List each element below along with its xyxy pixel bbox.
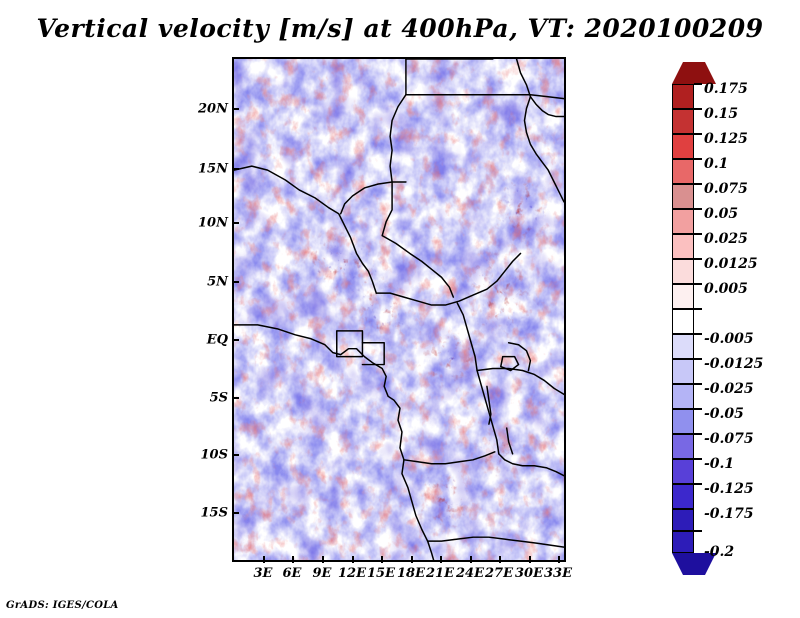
xtick-mark-6e xyxy=(292,556,294,563)
ytick-mark-5n xyxy=(232,281,239,283)
colorbar-tick-6 xyxy=(694,233,702,235)
colorbar-segment-9 xyxy=(672,284,694,309)
colorbar-label-11: -0.025 xyxy=(704,381,754,397)
xtick-label-30e: 30E xyxy=(515,566,543,581)
ytick-mark-20n xyxy=(232,108,239,110)
ytick-label-5s: 5S xyxy=(168,391,228,406)
colorbar-label-14: -0.1 xyxy=(704,456,734,472)
colorbar-label-16: -0.175 xyxy=(704,506,754,522)
colorbar-segment-1 xyxy=(672,84,694,109)
xtick-label-18e: 18E xyxy=(397,566,425,581)
ytick-label-eq: EQ xyxy=(168,333,228,348)
colorbar-label-3: 0.1 xyxy=(704,156,728,172)
colorbar-tick-4 xyxy=(694,183,702,185)
colorbar-segment-7 xyxy=(672,234,694,259)
colorbar-tick-13 xyxy=(694,408,702,410)
xtick-label-12e: 12E xyxy=(338,566,366,581)
colorbar-tick-2 xyxy=(694,133,702,135)
colorbar-label-12: -0.05 xyxy=(704,406,744,422)
xtick-label-9e: 9E xyxy=(313,566,332,581)
colorbar-segment-8 xyxy=(672,259,694,284)
colorbar-segment-15 xyxy=(672,434,694,459)
colorbar-tick-9 xyxy=(694,308,702,310)
colorbar-label-1: 0.15 xyxy=(704,106,738,122)
colorbar-segment-16 xyxy=(672,459,694,484)
colorbar-segment-6 xyxy=(672,209,694,234)
colorbar-segment-2 xyxy=(672,109,694,134)
colorbar-tick-3 xyxy=(694,158,702,160)
ytick-label-15s: 15S xyxy=(168,506,228,521)
colorbar-tick-10 xyxy=(694,333,702,335)
colorbar-tick-14 xyxy=(694,433,702,435)
colorbar-segment-10 xyxy=(672,309,694,334)
colorbar-segment-19 xyxy=(672,531,694,553)
colorbar-label-9: -0.005 xyxy=(704,331,754,347)
xtick-mark-12e xyxy=(352,556,354,563)
colorbar-label-0: 0.175 xyxy=(704,81,748,97)
colorbar-segment-3 xyxy=(672,134,694,159)
colorbar-label-8: 0.005 xyxy=(704,281,748,297)
colorbar-label-17: -0.2 xyxy=(704,544,734,560)
colorbar-label-15: -0.125 xyxy=(704,481,754,497)
colorbar-segment-13 xyxy=(672,384,694,409)
colorbar-label-2: 0.125 xyxy=(704,131,748,147)
xtick-mark-24e xyxy=(470,556,472,563)
colorbar-tick-7 xyxy=(694,258,702,260)
xtick-mark-27e xyxy=(499,556,501,563)
colorbar-label-4: 0.075 xyxy=(704,181,748,197)
colorbar-segment-14 xyxy=(672,409,694,434)
ytick-label-5n: 5N xyxy=(168,275,228,290)
xtick-label-6e: 6E xyxy=(283,566,302,581)
colorbar-tick-5 xyxy=(694,208,702,210)
xtick-label-21e: 21E xyxy=(426,566,454,581)
colorbar-tick-11 xyxy=(694,358,702,360)
colorbar-segment-12 xyxy=(672,359,694,384)
ytick-mark-10n xyxy=(232,222,239,224)
ytick-mark-5s xyxy=(232,397,239,399)
colorbar-segment-4 xyxy=(672,159,694,184)
colorbar-tick-8 xyxy=(694,283,702,285)
colorbar-label-5: 0.05 xyxy=(704,206,738,222)
xtick-mark-33e xyxy=(558,556,560,563)
colorbar-segment-5 xyxy=(672,184,694,209)
xtick-label-27e: 27E xyxy=(485,566,513,581)
map-plot-area xyxy=(232,57,566,562)
colorbar-segment-11 xyxy=(672,334,694,359)
ytick-label-15n: 15N xyxy=(168,162,228,177)
ytick-mark-eq xyxy=(232,339,239,341)
colorbar-label-7: 0.0125 xyxy=(704,256,758,272)
page-title: Vertical velocity [m/s] at 400hPa, VT: 2… xyxy=(0,14,800,43)
ytick-label-20n: 20N xyxy=(168,102,228,117)
colorbar-tick-17 xyxy=(694,530,702,532)
colorbar-tick-0 xyxy=(694,83,702,85)
ytick-label-10n: 10N xyxy=(168,216,228,231)
coastline-and-border-overlay xyxy=(234,59,564,560)
colorbar-label-10: -0.0125 xyxy=(704,356,763,372)
colorbar-tick-12 xyxy=(694,383,702,385)
xtick-mark-15e xyxy=(381,556,383,563)
ytick-label-10s: 10S xyxy=(168,448,228,463)
ytick-mark-10s xyxy=(232,454,239,456)
colorbar-tick-16 xyxy=(694,483,702,485)
xtick-label-24e: 24E xyxy=(456,566,484,581)
xtick-label-33e: 33E xyxy=(544,566,572,581)
colorbar-segment-17 xyxy=(672,484,694,509)
ytick-mark-15s xyxy=(232,512,239,514)
colorbar-tick-15 xyxy=(694,458,702,460)
colorbar-segment-18 xyxy=(672,509,694,531)
xtick-mark-30e xyxy=(529,556,531,563)
xtick-mark-18e xyxy=(411,556,413,563)
xtick-label-15e: 15E xyxy=(367,566,395,581)
ytick-mark-15n xyxy=(232,168,239,170)
xtick-label-3e: 3E xyxy=(254,566,273,581)
colorbar-label-6: 0.025 xyxy=(704,231,748,247)
colorbar-label-13: -0.075 xyxy=(704,431,754,447)
xtick-mark-3e xyxy=(263,556,265,563)
colorbar: 0.175 0.15 0.125 0.1 0.075 0.05 0.025 0.… xyxy=(668,62,692,554)
grads-attribution: GrADS: IGES/COLA xyxy=(6,600,119,611)
xtick-mark-9e xyxy=(322,556,324,563)
xtick-mark-21e xyxy=(440,556,442,563)
colorbar-tick-1 xyxy=(694,108,702,110)
